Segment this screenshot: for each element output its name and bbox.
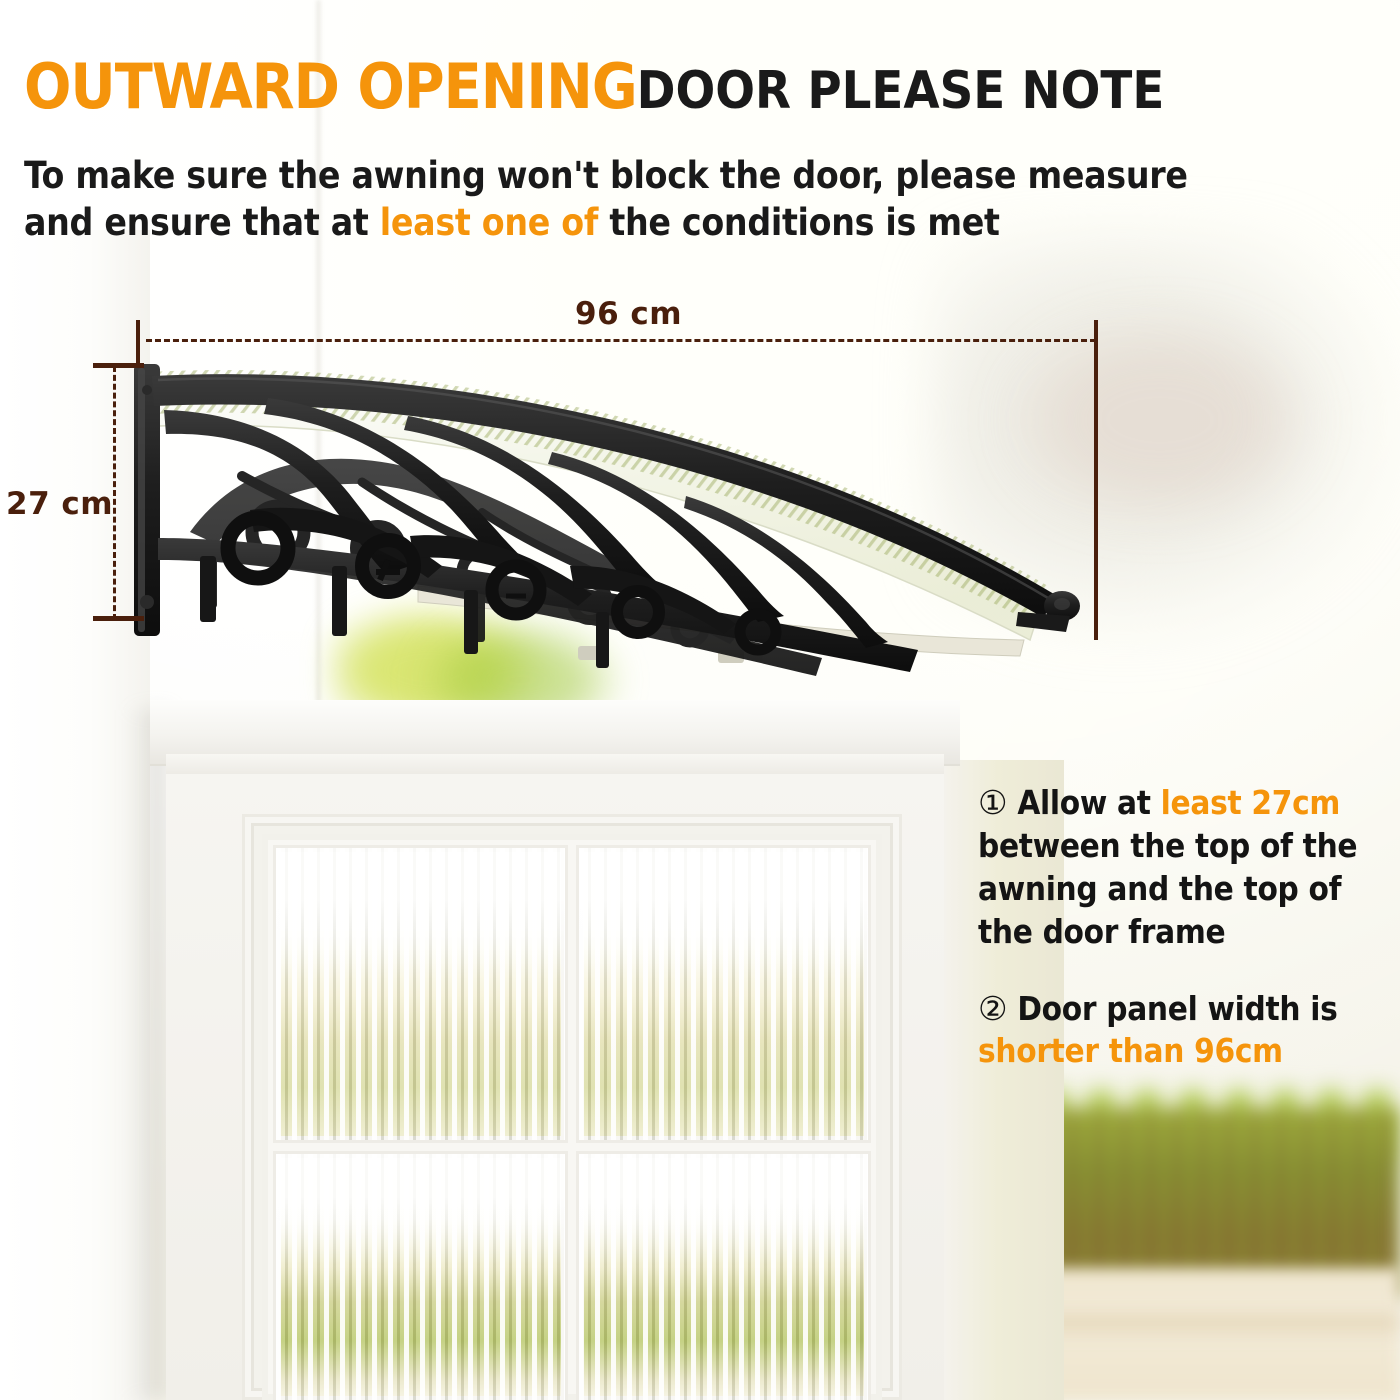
subtitle-line-1: To make sure the awning won't block the … — [24, 152, 1364, 199]
dimension-height-bottom-cap — [93, 616, 144, 621]
subtitle: To make sure the awning won't block the … — [24, 152, 1364, 247]
glass-gloss — [276, 848, 565, 1140]
door-assembly — [150, 700, 960, 1400]
dimension-left-extension-line — [136, 320, 140, 368]
note-item-2: ② Door panel width is shorter than 96cm — [978, 988, 1378, 1074]
awning-illustration — [118, 350, 1108, 680]
circled-number-1-icon: ① — [978, 783, 1007, 822]
dimension-height-top-cap — [93, 363, 144, 368]
glass-gloss — [579, 848, 868, 1140]
title-highlight: OUTWARD OPENING — [24, 50, 637, 123]
infographic-canvas: 96 cm 27 cm OUTWARD OPENINGDOOR PLEASE N… — [0, 0, 1400, 1400]
subtitle-line2-a: and ensure that at — [24, 201, 380, 244]
note-item-1: ① Allow at least 27cm between the top of… — [978, 782, 1378, 954]
subtitle-line-2: and ensure that at least one of the cond… — [24, 199, 1364, 246]
dimension-height-line — [113, 366, 116, 620]
door-shadow — [128, 710, 168, 1400]
note-2-highlight: shorter than 96cm — [978, 1030, 1378, 1073]
glass-pane — [579, 848, 868, 1140]
dimension-height-label: 27 cm — [6, 486, 113, 522]
note-1-text-b: between the top of the awning and the to… — [978, 826, 1357, 951]
note-1-highlight: least 27cm — [1161, 783, 1340, 822]
door-glass-grid — [276, 848, 868, 1400]
glass-gloss — [276, 1154, 565, 1400]
note-1-text-a: Allow at — [1007, 783, 1160, 822]
circled-number-2-icon: ② — [978, 989, 1007, 1028]
glass-gloss — [579, 1154, 868, 1400]
dimension-width-line — [146, 339, 1096, 342]
note-2-text-a: Door panel width is — [1007, 989, 1337, 1028]
door-frame — [166, 774, 944, 1400]
glass-pane — [276, 848, 565, 1140]
conditions-notes: ① Allow at least 27cm between the top of… — [978, 782, 1378, 1073]
glass-pane — [579, 1154, 868, 1400]
door-awning-product — [118, 350, 1108, 680]
dimension-right-extension-line — [1094, 320, 1098, 640]
title-rest: DOOR PLEASE NOTE — [637, 61, 1165, 121]
subtitle-line2-b: the conditions is met — [598, 201, 1000, 244]
door-lintel-molding — [166, 754, 944, 776]
page-title: OUTWARD OPENINGDOOR PLEASE NOTE — [24, 56, 1364, 118]
subtitle-line2-highlight: least one of — [380, 201, 598, 244]
glass-pane — [276, 1154, 565, 1400]
dimension-width-label: 96 cm — [575, 296, 682, 332]
